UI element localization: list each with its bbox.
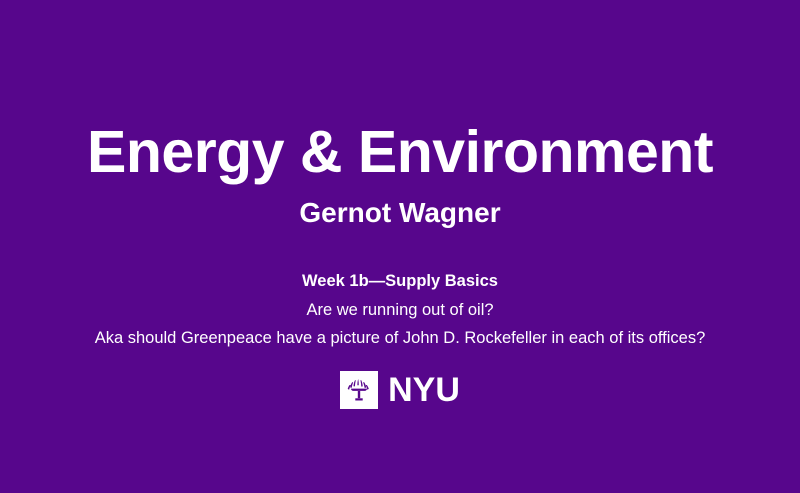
nyu-wordmark: NYU <box>388 373 460 407</box>
subtitle-block: Week 1b—Supply Basics Are we running out… <box>0 273 800 347</box>
session-question: Are we running out of oil? <box>0 302 800 319</box>
presenter-name: Gernot Wagner <box>0 199 800 227</box>
nyu-logo: NYU <box>340 371 460 409</box>
page-title: Energy & Environment <box>0 123 800 182</box>
session-subquestion: Aka should Greenpeace have a picture of … <box>0 330 800 347</box>
session-label: Week 1b—Supply Basics <box>0 273 800 290</box>
title-block: Energy & Environment Gernot Wagner <box>0 123 800 227</box>
title-slide: Energy & Environment Gernot Wagner Week … <box>0 0 800 493</box>
nyu-torch-icon <box>340 371 378 409</box>
